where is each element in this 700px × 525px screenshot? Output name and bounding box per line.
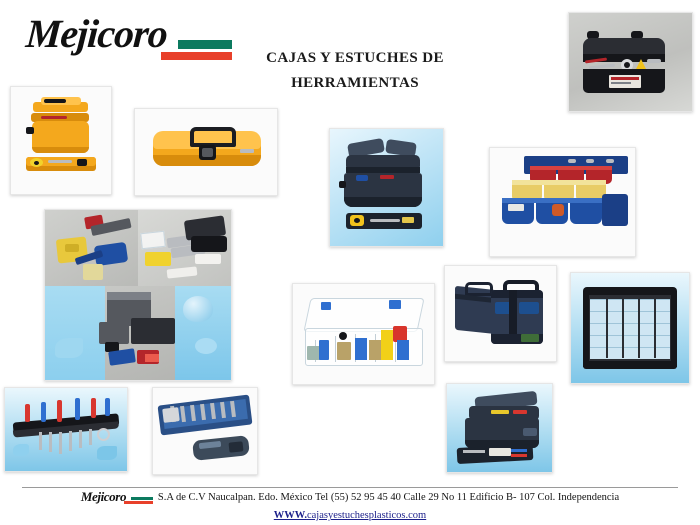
product-photo-plastic-cases-collage[interactable] xyxy=(44,209,232,381)
website-link[interactable]: WWW.cajasyestuchesplasticos.com xyxy=(274,510,426,521)
website-link-domain: cajasyestuchesplasticos.com xyxy=(307,510,426,521)
product-photo-wall-tool-rack[interactable] xyxy=(4,387,128,472)
product-image xyxy=(330,129,443,246)
footer-divider xyxy=(22,487,678,488)
brand-logo: Mejicoro xyxy=(26,14,231,62)
footer: Mejicoro S.A de C.V Naucalpan. Edo. Méxi… xyxy=(0,490,700,523)
product-photo-open-yellow-toolbox[interactable] xyxy=(10,86,112,195)
product-image xyxy=(293,284,434,384)
page-title-line1: CAJAS Y ESTUCHES DE xyxy=(240,46,470,71)
product-photo-black-drawer-cabinet[interactable] xyxy=(570,272,690,384)
footer-flag-bar-red xyxy=(124,501,153,504)
page-title: CAJAS Y ESTUCHES DE HERRAMIENTAS xyxy=(240,46,470,96)
footer-brand-text: Mejicoro xyxy=(81,490,126,504)
product-photo-navy-tool-bags[interactable] xyxy=(444,265,557,362)
catalog-page: Mejicoro CAJAS Y ESTUCHES DE HERRAMIENTA… xyxy=(0,0,700,525)
product-image xyxy=(490,148,635,256)
flag-bar-green xyxy=(178,40,232,49)
product-photo-closed-yellow-case[interactable] xyxy=(134,108,278,196)
product-photo-black-toolbox-tools[interactable] xyxy=(568,12,693,112)
footer-brand-logo: Mejicoro xyxy=(81,490,155,505)
flag-bar-red xyxy=(161,52,232,60)
website-link-prefix: WWW. xyxy=(274,510,307,521)
page-title-line2: HERRAMIENTAS xyxy=(240,71,470,96)
brand-logo-text: Mejicoro xyxy=(25,14,169,54)
product-photo-navy-toolbox-tools[interactable] xyxy=(446,383,553,473)
product-image xyxy=(571,273,689,383)
product-image xyxy=(135,109,277,195)
product-photo-clear-compartment-organizer[interactable] xyxy=(292,283,435,385)
product-image xyxy=(445,266,556,361)
product-image xyxy=(569,13,692,111)
product-image xyxy=(5,388,127,471)
product-photo-stacked-storage-bins[interactable] xyxy=(489,147,636,257)
product-image xyxy=(447,384,552,472)
product-image xyxy=(45,210,231,380)
product-image xyxy=(11,87,111,194)
footer-contact-line: Mejicoro S.A de C.V Naucalpan. Edo. Méxi… xyxy=(0,490,700,505)
footer-address: S.A de C.V Naucalpan. Edo. México Tel (5… xyxy=(158,492,619,503)
product-photo-blue-tool-roll[interactable] xyxy=(152,387,258,475)
footer-flag-bar-green xyxy=(131,497,153,500)
product-photo-navy-toolbox-open[interactable] xyxy=(329,128,444,247)
product-image xyxy=(153,388,257,474)
